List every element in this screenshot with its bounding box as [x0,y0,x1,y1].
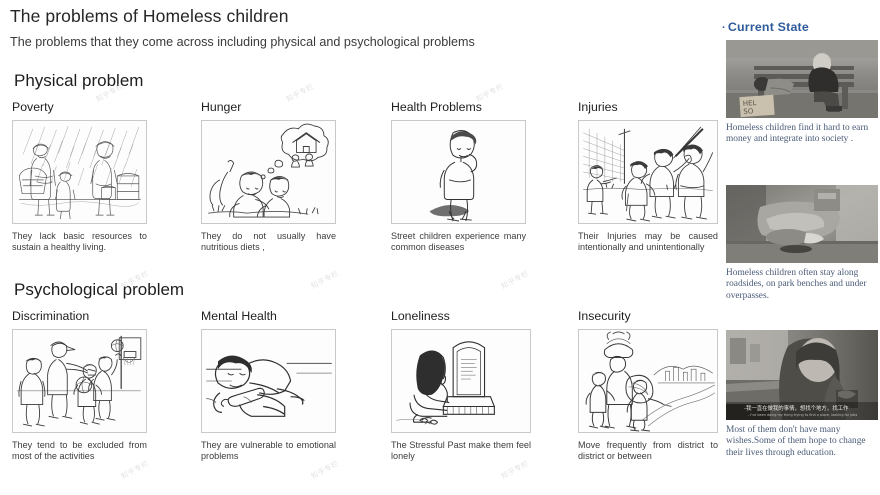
slide-root: The problems of Homeless children The pr… [0,0,880,495]
card-title: Injuries [578,100,718,114]
card-caption: Move frequently from district to distric… [578,440,718,462]
current-state-panel: ·Current State [722,0,880,495]
photo-caption: Homeless children find it hard to earn m… [726,123,878,146]
section-heading-psychological: Psychological problem [14,280,184,300]
card-title: Mental Health [201,309,336,323]
svg-text:SO: SO [743,107,754,116]
card-caption: Street children experience many common d… [391,231,526,253]
card-discrimination[interactable]: Discrimination [12,309,147,462]
girl-at-grave-sketch-icon [391,329,531,433]
bullet-icon: · [722,22,726,34]
card-loneliness[interactable]: Loneliness [391,309,531,462]
family-migrating-sketch-icon [578,329,718,433]
card-title: Loneliness [391,309,531,323]
person-sleeping-on-roadside-photo [726,185,878,263]
photo-caption: Homeless children often stay along roads… [726,268,878,302]
page-title: The problems of Homeless children [10,6,289,27]
svg-text:- I've been doing my thing try: - I've been doing my thing trying to fin… [748,413,857,417]
sick-child-standing-sketch-icon [391,120,526,224]
page-subtitle: The problems that they come across inclu… [10,35,475,49]
card-injuries[interactable]: Injuries [578,100,718,253]
card-title: Poverty [12,100,147,114]
card-insecurity[interactable]: Insecurity [578,309,718,462]
card-caption: They do not usually have nutritious diet… [201,231,336,253]
rail-heading-label: Current State [728,20,809,34]
card-caption: They lack basic resources to sustain a h… [12,231,147,253]
section-heading-physical: Physical problem [14,71,143,91]
rail-heading: ·Current State [722,20,809,34]
photo-block[interactable]: Homeless children often stay along roads… [726,185,878,302]
card-title: Insecurity [578,309,718,323]
card-health-problems[interactable]: Health Problems [391,100,526,253]
card-caption: They are vulnerable to emotional problem… [201,440,336,462]
card-poverty[interactable]: Poverty [12,100,147,253]
card-caption: The Stressful Past make them feel lonely [391,440,531,462]
svg-text:-我一直在做我的事情，想找个地方，找工作: -我一直在做我的事情，想找个地方，找工作 [744,404,849,412]
photo-caption: Most of them don't have many wishes.Some… [726,425,878,459]
children-fighting-sticks-sketch-icon [578,120,718,224]
card-caption: Their Injuries may be caused intentional… [578,231,718,253]
children-dreaming-food-sketch-icon [201,120,336,224]
card-caption: They tend to be excluded from most of th… [12,440,147,462]
child-lying-bottle-sketch-icon [201,329,336,433]
rain-family-sketch-icon [12,120,147,224]
card-title: Discrimination [12,309,147,323]
card-title: Hunger [201,100,336,114]
homeless-man-on-park-bench-photo: HEL SO [726,40,878,118]
card-mental-health[interactable]: Mental Health [201,309,336,462]
excluded-child-basketball-sketch-icon [12,329,147,433]
card-hunger[interactable]: Hunger [201,100,336,253]
homeless-girl-interview-photo: -我一直在做我的事情，想找个地方，找工作 - I've been doing m… [726,330,878,420]
photo-block[interactable]: HEL SO Homeless children find it hard to… [726,40,878,146]
photo-block[interactable]: -我一直在做我的事情，想找个地方，找工作 - I've been doing m… [726,330,878,459]
main-content: The problems of Homeless children The pr… [0,0,715,495]
card-title: Health Problems [391,100,526,114]
